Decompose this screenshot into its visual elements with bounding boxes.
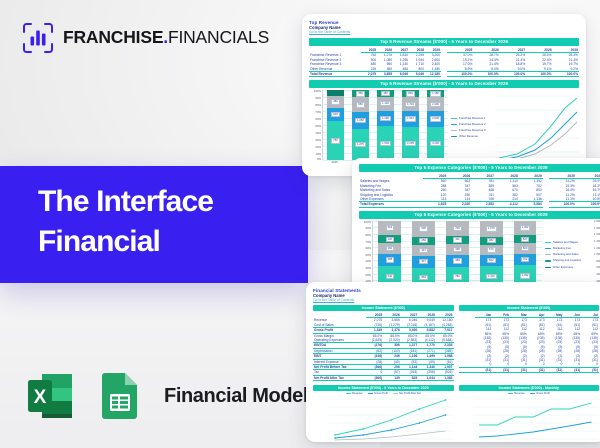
table-total-row: Net Profit After Tax(366)1498291,0441,38… bbox=[313, 375, 454, 380]
poster-canvas: FRANCHISE.FINANCIALS The Interface Finan… bbox=[0, 0, 600, 448]
ytick: 80% bbox=[365, 234, 371, 237]
expenses-values-table: 2025 2026 2027 2028 2029 Salaries and Wa… bbox=[359, 174, 543, 208]
ytick: 60% bbox=[365, 247, 371, 250]
brand-name-bold: FRANCHISE bbox=[63, 29, 163, 47]
legend-item: Franchise Revenue 2 bbox=[451, 123, 491, 126]
bar-column: 1,3625078007021,392 bbox=[514, 221, 537, 287]
ytick: 20% bbox=[365, 274, 371, 277]
revenue-table-pair: 2025 2026 2027 2028 2029 Franchise Reven… bbox=[309, 46, 579, 77]
hero-line-1: The Interface bbox=[38, 185, 213, 218]
legend-item: Franchise Revenue 1 bbox=[451, 117, 491, 120]
bar-column: 1,1802,4002,6003,200 bbox=[427, 90, 444, 160]
revenue-chart-band: Top 5 Revenue Streams ($'000) - 5 Years … bbox=[309, 80, 579, 88]
statements-table-pair: Income Statement ($'000) 2025 2026 2027 … bbox=[313, 303, 599, 381]
legend-item: Marketing Fee bbox=[545, 247, 587, 250]
revenue-toc-link[interactable]: Go to the Table of Contents bbox=[309, 30, 579, 35]
expenses-stacked-chart: 100% 90% 80% 70% 60% 50% 40% 30% 20% 10%… bbox=[359, 221, 542, 287]
revenue-values-table: 2025 2026 2027 2028 2029 Franchise Reven… bbox=[309, 48, 441, 77]
ytick: 10% bbox=[315, 153, 321, 156]
bar-column: 363120260288540 bbox=[378, 221, 401, 287]
ytick-right: 1 000 bbox=[594, 253, 600, 256]
ytick-right: 2 000 bbox=[594, 220, 600, 223]
ytick: 70% bbox=[315, 111, 321, 114]
ytick-right: 600 bbox=[596, 266, 600, 269]
ytick: 100% bbox=[314, 90, 321, 93]
revenue-sheet-card[interactable]: Top Revenue Company Name Go to the Table… bbox=[302, 14, 586, 176]
legend-item: Marketing and Sales bbox=[545, 253, 587, 256]
statements-monthly-line-chart bbox=[459, 395, 600, 442]
ytick: 30% bbox=[365, 267, 371, 270]
legend-item: Salaries and Wages bbox=[545, 241, 587, 244]
revenue-chart-legend: Franchise Revenue 1 Franchise Revenue 2 … bbox=[448, 88, 491, 166]
page-title: The Interface Financial bbox=[38, 182, 300, 262]
ytick: 60% bbox=[315, 118, 321, 121]
format-badges: X Financial Model bbox=[22, 368, 308, 424]
expenses-right-axis: 2 000 1 800 1 600 1 400 1 200 1 000 800 … bbox=[587, 219, 600, 285]
xtick: 2025 bbox=[326, 160, 343, 164]
revenue-growth-line-chart bbox=[491, 88, 579, 166]
ytick-right: 800 bbox=[596, 260, 600, 263]
format-badges-label: Financial Model bbox=[164, 385, 308, 408]
revenue-chart-plot: 480500750 3509501,0801,275 4801,1401,296… bbox=[322, 90, 448, 160]
ytick-right: 1 200 bbox=[594, 247, 600, 250]
ytick: 90% bbox=[315, 97, 321, 100]
ytick: 50% bbox=[315, 125, 321, 128]
revenue-stacked-chart: 100% 90% 80% 70% 60% 50% 40% 30% 20% 10%… bbox=[309, 90, 448, 160]
bar-column: 528250347347663 bbox=[412, 221, 435, 287]
table-total-row: (31)(31)(31)(31)(31)(31)(31) bbox=[459, 367, 600, 372]
expenses-chart-yaxis: 100% 90% 80% 70% 60% 50% 40% 30% 20% 10%… bbox=[359, 221, 372, 287]
svg-text:X: X bbox=[34, 387, 47, 408]
table-total-row: Total Revenue2,0753,6556,0469,04912,180 bbox=[309, 72, 441, 77]
brand-logo: FRANCHISE.FINANCIALS bbox=[22, 22, 269, 54]
hero-panel: The Interface Financial bbox=[0, 166, 308, 283]
ytick: 30% bbox=[315, 139, 321, 142]
ytick: 80% bbox=[315, 104, 321, 107]
expenses-table-band: Top 5 Expense Categories ($'000) - 5 Yea… bbox=[359, 164, 600, 172]
bar-column: 4801,1401,2961,530 bbox=[377, 90, 394, 160]
bar-column: 8001,7101,9442,295 bbox=[402, 90, 419, 160]
hero-line-2: Financial bbox=[38, 222, 300, 262]
revenue-percent-table: 2025 2026 2027 2028 2029 37.0%28.7%25.2%… bbox=[447, 48, 579, 77]
table-total-row: 100.0%100.0% bbox=[549, 202, 600, 207]
ytick: 50% bbox=[365, 254, 371, 257]
revenue-table-band: Top 5 Revenue Streams ($'000) - 5 Years … bbox=[309, 38, 579, 46]
expenses-sheet: Top 5 Expense Categories ($'000) - 5 Yea… bbox=[352, 158, 600, 298]
ytick-right: 400 bbox=[596, 273, 600, 276]
legend-item: Franchise Revenue 3 bbox=[451, 129, 491, 132]
legend-item: Other Expenses bbox=[545, 266, 587, 269]
expenses-percent-table: 2025 2026 31.2%29.0% 19.3%18.2% 16.4%16.… bbox=[549, 174, 600, 208]
ytick: 40% bbox=[315, 132, 321, 135]
income-statement-table-right: Jan Feb Mar Apr May Jun Jul 173173173173… bbox=[459, 313, 600, 373]
statements-annual-line-chart bbox=[313, 395, 454, 442]
ytick: 0% bbox=[317, 158, 321, 161]
statements-band-right: Income Statement ($'000) bbox=[459, 305, 600, 311]
expenses-sheet-card[interactable]: Top 5 Expense Categories ($'000) - 5 Yea… bbox=[352, 158, 600, 298]
table-total-row: Total Expenses1,6252,0202,5534,1125,584 bbox=[359, 202, 543, 207]
bar-column: 706311468389781 bbox=[446, 221, 469, 287]
expenses-chart-plot: 363120260288540 528250347347663 70631146… bbox=[372, 221, 542, 287]
ytick: 20% bbox=[315, 146, 321, 149]
expenses-table-pair: 2025 2026 2027 2028 2029 Salaries and Wa… bbox=[359, 172, 600, 208]
statements-chart-band-left: Income Statement ($'000) - 5 Years to De… bbox=[313, 385, 454, 391]
revenue-chart-yaxis: 100% 90% 80% 70% 60% 50% 40% 30% 20% 10%… bbox=[309, 90, 322, 160]
ytick-right: 1 400 bbox=[594, 240, 600, 243]
table-row: Other Revenue2253504808001,180 bbox=[309, 67, 441, 72]
bar-column: 480500750 bbox=[327, 90, 344, 160]
legend-item: Other Revenue bbox=[451, 135, 491, 138]
ytick: 40% bbox=[365, 260, 371, 263]
ytick-right: 1 800 bbox=[594, 227, 600, 230]
table-row: Franchise Revenue 34809501,1401,7102,400 bbox=[309, 62, 441, 66]
legend-item: Shipping and Logistics bbox=[545, 259, 587, 262]
table-total-row: 100.0%100.0%100.0%100.0%100.0% bbox=[447, 72, 579, 77]
ytick-right: 1 600 bbox=[594, 233, 600, 236]
google-sheets-icon bbox=[92, 368, 148, 424]
expenses-chart-legend: Salaries and Wages Marketing Fee Marketi… bbox=[542, 219, 587, 291]
statements-chart-pair: Income Statement ($'000) - 5 Years to De… bbox=[313, 383, 599, 442]
brand-wordmark: FRANCHISE.FINANCIALS bbox=[63, 29, 269, 47]
statements-sheet: Financial Statements Company Name Go to … bbox=[306, 282, 600, 442]
ytick: 100% bbox=[364, 221, 371, 224]
excel-icon: X bbox=[22, 368, 78, 424]
statements-band-left: Income Statement ($'000) bbox=[313, 305, 454, 311]
brand-name-light: FINANCIALS bbox=[168, 29, 269, 47]
revenue-sheet: Top Revenue Company Name Go to the Table… bbox=[302, 14, 586, 176]
statements-chart-band-right: Income Statement ($'000) - Monthly bbox=[459, 385, 600, 391]
ytick: 90% bbox=[365, 227, 371, 230]
bar-chart-bracket-icon bbox=[22, 22, 54, 54]
statements-sheet-card[interactable]: Financial Statements Company Name Go to … bbox=[306, 282, 600, 442]
ytick: 70% bbox=[365, 241, 371, 244]
expenses-chart-band: Top 5 Expense Categories ($'000) - 5 Yea… bbox=[359, 211, 600, 219]
bar-column: 3509501,0801,275 bbox=[352, 90, 369, 160]
income-statement-table-left: 2025 2026 2027 2028 2029 Revenue2,0753,6… bbox=[313, 313, 454, 381]
bar-column: 1,0793826705631,110 bbox=[480, 221, 503, 287]
